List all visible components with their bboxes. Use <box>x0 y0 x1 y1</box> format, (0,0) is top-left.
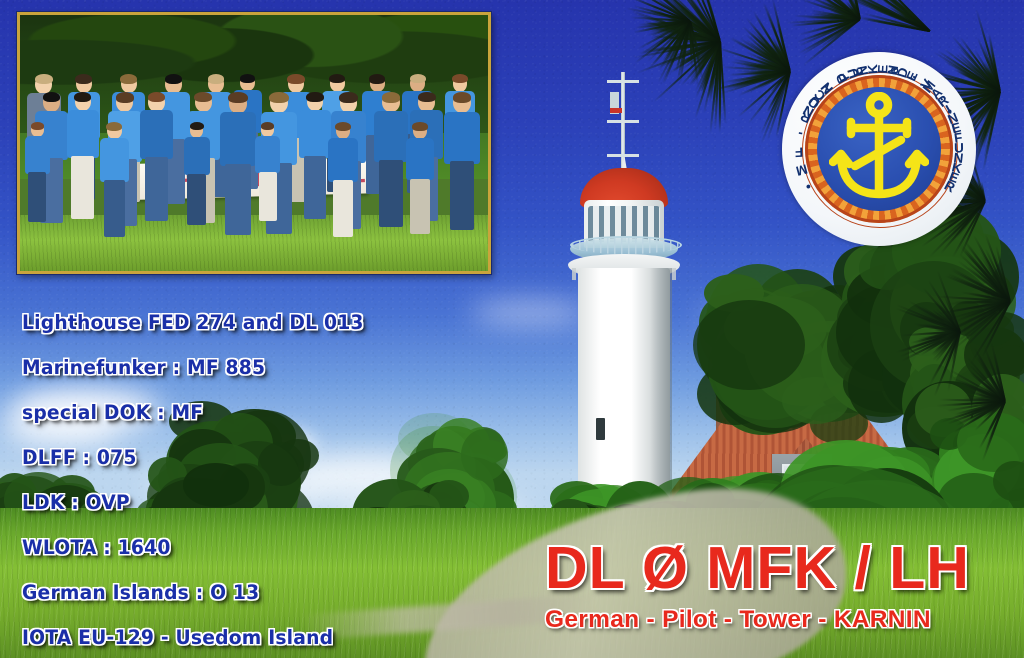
mast-crossarm <box>607 154 639 157</box>
info-line-marinefunker: Marinefunker : MF 885 <box>22 345 473 390</box>
person-hair <box>190 122 204 130</box>
person <box>326 123 361 252</box>
info-line-lighthouse: Lighthouse FED 274 and DL 013 <box>22 300 473 345</box>
person-hair <box>208 74 225 84</box>
info-line-dlff: DLFF : 075 <box>22 435 473 480</box>
person-hair <box>339 92 358 103</box>
person-hair <box>382 92 400 103</box>
person-hair <box>106 122 122 131</box>
person-shirt <box>406 138 435 180</box>
person-legs <box>450 161 475 230</box>
person-hair <box>261 122 274 130</box>
person-hair <box>228 92 247 103</box>
person-hair <box>116 92 134 103</box>
info-line-german-islands: German Islands : O 13 <box>22 570 473 615</box>
person-shirt <box>255 136 280 173</box>
person-hair <box>306 92 323 102</box>
person <box>253 123 283 234</box>
person-hair <box>329 74 345 83</box>
person-hair <box>35 74 53 84</box>
info-line-ldk: LDK : OVP <box>22 480 473 525</box>
gallery-railing <box>570 236 682 254</box>
person-hair <box>75 74 92 84</box>
callsign-main: DL Ø MFK / LH <box>545 536 1015 600</box>
person-hair <box>369 74 385 84</box>
person-legs <box>145 157 168 221</box>
person-hair <box>148 92 166 102</box>
person-hair <box>418 92 436 102</box>
person-shirt <box>100 138 129 181</box>
person <box>441 93 483 249</box>
person-hair <box>74 92 91 102</box>
person-shirt <box>444 112 479 164</box>
person-hair <box>120 74 137 84</box>
person-legs <box>259 172 277 221</box>
info-line-iota: IOTA EU-129 - Usedom Island <box>22 615 473 658</box>
person-hair <box>269 92 288 103</box>
person-legs <box>28 172 46 221</box>
mast-crossarm <box>607 120 639 123</box>
person-shirt <box>220 112 257 166</box>
person-legs <box>225 164 251 235</box>
callsign-subtitle: German - Pilot - Tower - KARNIN <box>545 606 1015 634</box>
person-shirt <box>328 138 357 181</box>
info-line-special-dok: special DOK : MF <box>22 390 473 435</box>
qsl-card: 10 JAHRE DLØMFK/LH Lighthouse FED 274 an… <box>0 0 1024 658</box>
person-shirt <box>140 110 173 159</box>
inset-group-photo[interactable]: 10 JAHRE DLØMFK/LH <box>17 12 491 274</box>
person-legs <box>187 174 205 225</box>
person-hair <box>165 74 183 84</box>
person-hair <box>453 92 472 103</box>
person-hair <box>194 92 212 102</box>
person-legs <box>333 180 354 237</box>
person-hair <box>31 122 44 130</box>
person-hair <box>287 74 304 84</box>
person-hair <box>335 122 351 131</box>
info-line-wlota: WLOTA : 1640 <box>22 525 473 570</box>
person <box>403 123 437 250</box>
person-hair <box>43 92 61 102</box>
person-shirt <box>184 137 210 176</box>
logo-arc-char: R <box>942 178 958 196</box>
person <box>22 123 52 235</box>
club-logo[interactable]: •MF-RUNDE e.V.• NOCH FUNKENDE MARINEFUNK… <box>782 52 976 246</box>
person-hair <box>412 122 427 131</box>
tower-window <box>596 418 605 440</box>
person <box>137 93 176 239</box>
info-text-block: Lighthouse FED 274 and DL 013 Marinefunk… <box>22 300 492 658</box>
anchor-icon <box>829 92 929 206</box>
person-legs <box>71 156 94 219</box>
mast-marker <box>610 108 622 113</box>
person <box>181 123 212 239</box>
person-hair <box>410 74 426 83</box>
person-hair <box>240 74 256 83</box>
person-shirt <box>25 136 50 173</box>
mast-crossarm <box>607 80 639 83</box>
person-hair <box>452 74 468 83</box>
person-legs <box>379 160 403 227</box>
person-legs <box>104 180 125 237</box>
person <box>97 123 132 253</box>
callsign-block: DL Ø MFK / LH German - Pilot - Tower - K… <box>545 536 1015 634</box>
person-legs <box>304 156 327 219</box>
person-legs <box>410 179 430 235</box>
person-shirt <box>67 110 99 158</box>
